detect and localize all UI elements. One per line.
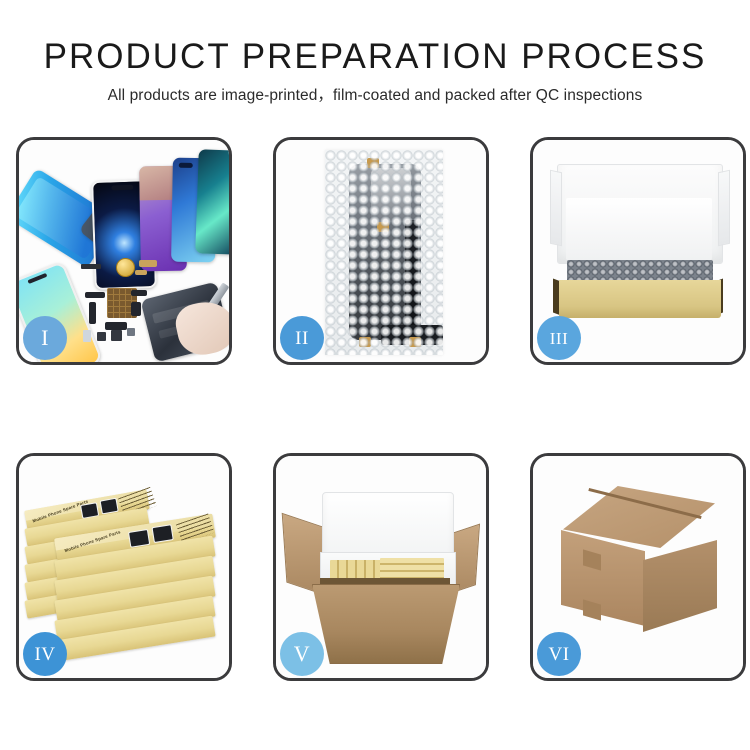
header: PRODUCT PREPARATION PROCESS All products… [0,0,750,106]
battery-connector-part [81,264,101,269]
step-badge: III [537,316,581,360]
vibration-motor-part [116,258,135,277]
small-ic-part-b [111,330,122,341]
flex-cable-part-c [105,322,127,330]
gold-flex-part-b [135,270,147,275]
step-badge: V [280,632,324,676]
step-badge: VI [537,632,581,676]
product-preparation-infographic: PRODUCT PREPARATION PROCESS All products… [0,0,750,750]
flex-cable-part-b [89,302,96,324]
gold-flex-part-a [139,260,157,267]
step-6-sealed-carton: VI [530,453,746,681]
step-5-foam-carton: V [273,453,489,681]
step-4-stacked-boxes: Mobile Phone Spare Parts Mobile Phone Sp… [16,453,232,681]
step-1-products: I [16,137,232,365]
flex-cable-part-a [85,292,105,298]
step-badge: I [23,316,67,360]
bubble-wrap-bag [325,150,443,355]
carton-front-face [561,530,645,626]
process-steps-grid: I II [16,137,746,681]
step-badge: II [280,316,324,360]
carton-body [312,584,460,664]
yellow-box-tray [559,280,721,318]
foam-insert [566,198,712,260]
small-ic-part-a [97,332,106,341]
step-3-inner-box: III [530,137,746,365]
carton-side-face [643,540,717,632]
flex-cable-part-d [131,290,147,296]
step-2-bubble-wrap: II [273,137,489,365]
sim-tray-part [83,330,91,342]
page-title: PRODUCT PREPARATION PROCESS [0,38,750,76]
small-ic-part-c [127,328,135,336]
step-badge: IV [23,632,67,676]
page-subtitle: All products are image-printed，film-coat… [0,86,750,106]
bubble-texture [325,150,443,355]
phone-teal [195,149,229,254]
flex-cable-part-e [131,302,141,316]
